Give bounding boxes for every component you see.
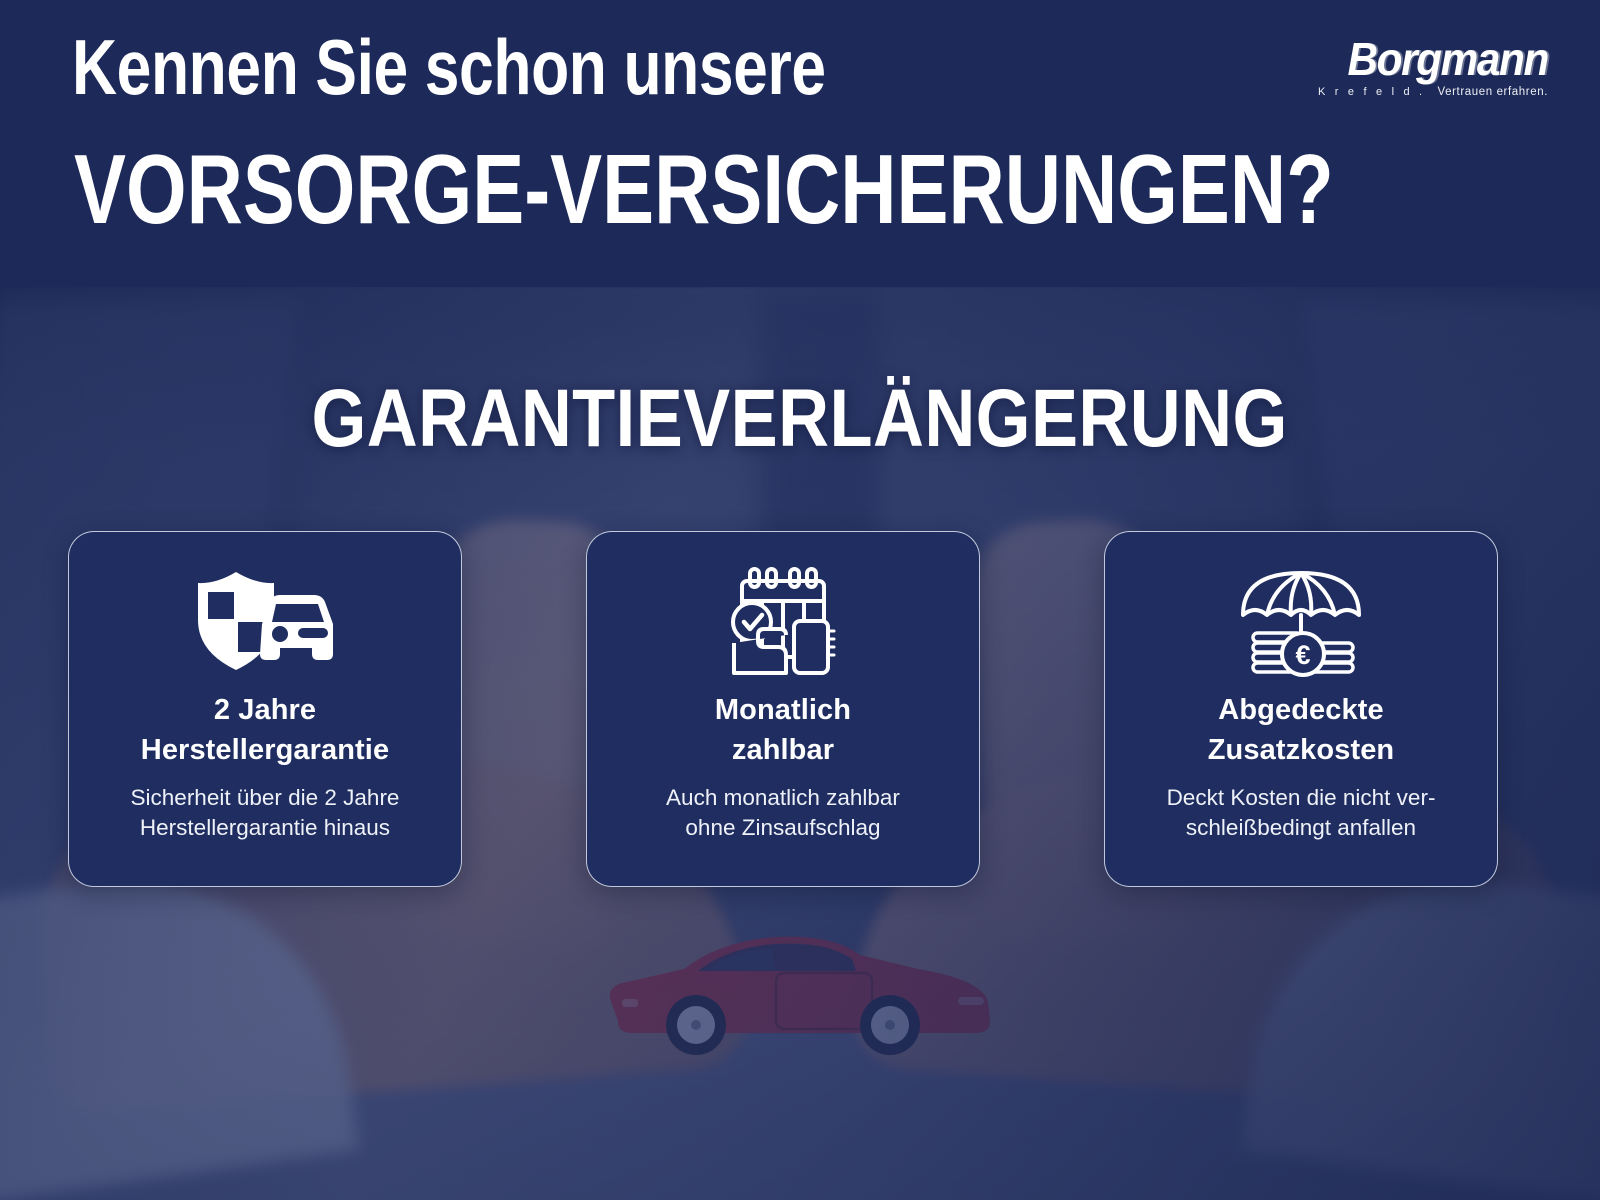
card-description: Sicherheit über die 2 Jahre Herstellerga… — [69, 783, 461, 843]
header-band: Kennen Sie schon unsere VORSORGE-VERSICH… — [0, 0, 1600, 287]
logo-city: K r e f e l d . — [1318, 86, 1425, 98]
feature-card[interactable]: € Abgedeckte Zusatzkosten Deckt Kosten d… — [1104, 531, 1498, 887]
borgmann-logo[interactable]: Borgmann K r e f e l d . Vertrauen erfah… — [1318, 36, 1548, 110]
page-title: GARANTIEVERLÄNGERUNG — [0, 378, 1600, 460]
logo-wordmark: Borgmann — [1336, 36, 1548, 82]
feature-card[interactable]: Monatlich zahlbar Auch monatlich zahlbar… — [586, 531, 980, 887]
card-description: Deckt Kosten die nicht ver- schleißbedin… — [1105, 783, 1497, 843]
card-title: Abgedeckte Zusatzkosten — [1105, 690, 1497, 770]
shield-car-icon — [69, 562, 461, 680]
feature-card[interactable]: 2 Jahre Herstellergarantie Sicherheit üb… — [68, 531, 462, 887]
svg-text:€: € — [1295, 640, 1310, 670]
poster-root: Kennen Sie schon unsere VORSORGE-VERSICH… — [0, 0, 1600, 1200]
page-title-text: GARANTIEVERLÄNGERUNG — [312, 378, 1288, 460]
card-title: 2 Jahre Herstellergarantie — [69, 690, 461, 770]
logo-claim: Vertrauen erfahren. — [1438, 86, 1549, 98]
feature-card-list: 2 Jahre Herstellergarantie Sicherheit üb… — [0, 531, 1600, 887]
umbrella-euro-coins-icon: € — [1105, 562, 1497, 680]
card-title: Monatlich zahlbar — [587, 690, 979, 770]
header-line-2: VORSORGE-VERSICHERUNGEN? — [74, 140, 1334, 238]
header-line-1: Kennen Sie schon unsere — [72, 28, 826, 106]
calendar-hand-payment-icon — [587, 562, 979, 680]
card-description: Auch monatlich zahlbar ohne Zinsaufschla… — [587, 783, 979, 843]
logo-subline: K r e f e l d . Vertrauen erfahren. — [1318, 86, 1548, 98]
